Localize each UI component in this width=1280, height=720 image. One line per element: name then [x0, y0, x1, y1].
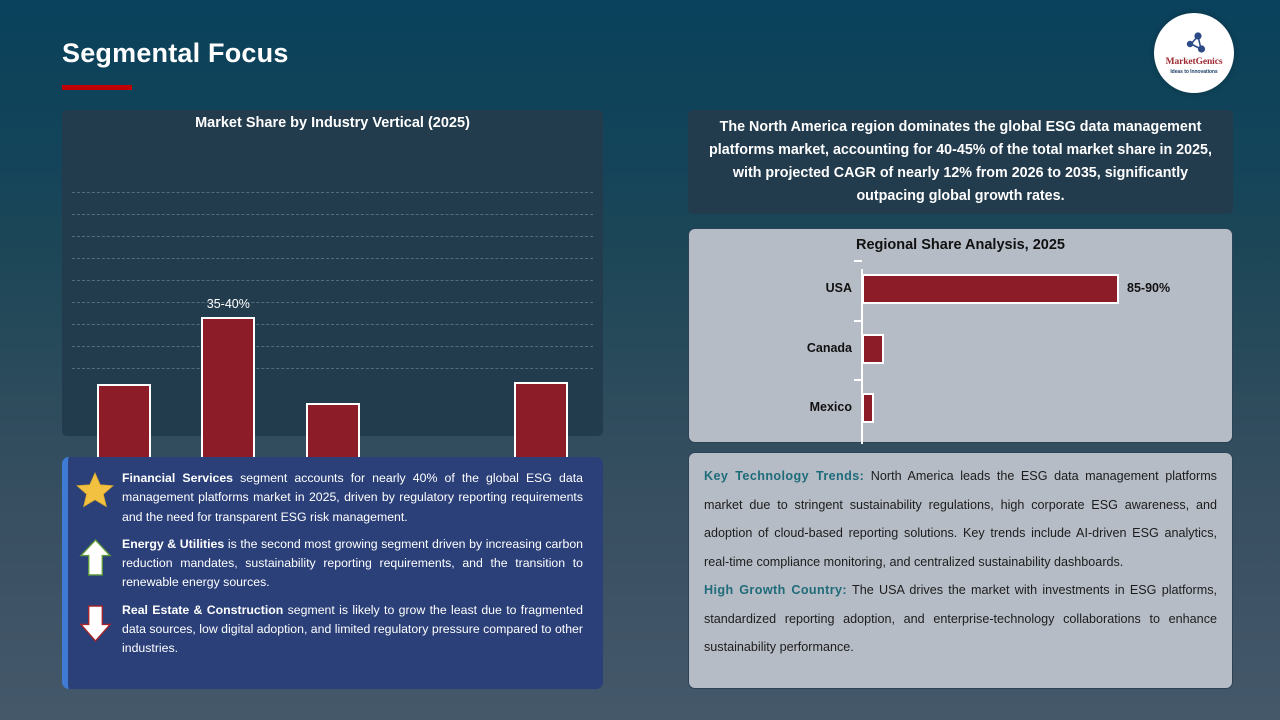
- insight-bullet-text: Energy & Utilities is the second most gr…: [122, 535, 591, 593]
- down-arrow-icon: [79, 604, 112, 643]
- regional-bar-label: Canada: [732, 341, 852, 355]
- regional-axis-tick: [854, 379, 862, 381]
- trends-paragraph-heading: Key Technology Trends:: [704, 469, 864, 483]
- insight-bullet-text: Real Estate & Construction segment is li…: [122, 601, 591, 659]
- regional-chart-title: Regional Share Analysis, 2025: [689, 237, 1232, 253]
- logo-tagline: Ideas to Innovations: [1170, 69, 1217, 75]
- region-callout-box: The North America region dominates the g…: [688, 110, 1233, 214]
- bar-chart-title: Market Share by Industry Vertical (2025): [62, 115, 603, 131]
- logo-name: MarketGenics: [1166, 58, 1223, 68]
- regional-bar-label: Mexico: [732, 400, 852, 414]
- up-arrow-icon: [68, 535, 122, 577]
- gridline: [72, 346, 593, 347]
- star-icon: [68, 469, 122, 508]
- page-title: Segmental Focus: [62, 38, 289, 69]
- gridline: [72, 258, 593, 259]
- insights-bullets-panel: Financial Services segment accounts for …: [62, 457, 603, 689]
- gridline: [72, 236, 593, 237]
- insight-bullet: Financial Services segment accounts for …: [68, 465, 591, 531]
- insight-bullet: Real Estate & Construction segment is li…: [68, 597, 591, 663]
- company-logo: MarketGenics Ideas to Innovations: [1154, 13, 1234, 93]
- regional-bar-value: 85-90%: [1127, 281, 1170, 295]
- trends-paragraph: Key Technology Trends: North America lea…: [704, 462, 1217, 576]
- regional-bar: [862, 274, 1119, 304]
- regional-bar-label: USA: [732, 281, 852, 295]
- trends-paragraph: High Growth Country: The USA drives the …: [704, 576, 1217, 662]
- gridline: [72, 192, 593, 193]
- regional-bar: [862, 393, 874, 423]
- technology-trends-panel: Key Technology Trends: North America lea…: [688, 452, 1233, 689]
- trends-paragraph-heading: High Growth Country:: [704, 583, 847, 597]
- insight-bullet-text: Financial Services segment accounts for …: [122, 469, 591, 527]
- regional-axis-tick: [854, 260, 862, 262]
- down-arrow-icon: [68, 601, 122, 643]
- star-icon: [76, 472, 114, 508]
- insight-bullet-term: Energy & Utilities: [122, 537, 224, 551]
- insight-bullet: Energy & Utilities is the second most gr…: [68, 531, 591, 597]
- gridline: [72, 280, 593, 281]
- gridline: [72, 324, 593, 325]
- gridline: [72, 368, 593, 369]
- gridline: [72, 302, 593, 303]
- title-underline-rule: [62, 85, 132, 90]
- insight-bullet-term: Real Estate & Construction: [122, 603, 283, 617]
- region-callout-text: The North America region dominates the g…: [704, 116, 1217, 208]
- regional-axis-tick: [854, 320, 862, 322]
- up-arrow-icon: [79, 538, 112, 577]
- bar-value-label: 35-40%: [168, 297, 288, 311]
- bar-chart-plot-area: [72, 192, 593, 384]
- regional-bar: [862, 334, 884, 364]
- insight-bullet-term: Financial Services: [122, 471, 233, 485]
- gridline: [72, 214, 593, 215]
- regional-share-chart-panel: Regional Share Analysis, 2025 USA85-90%C…: [688, 228, 1233, 443]
- network-nodes-icon: [1179, 31, 1209, 57]
- vertical-bar-chart-panel: Market Share by Industry Vertical (2025)…: [62, 110, 603, 436]
